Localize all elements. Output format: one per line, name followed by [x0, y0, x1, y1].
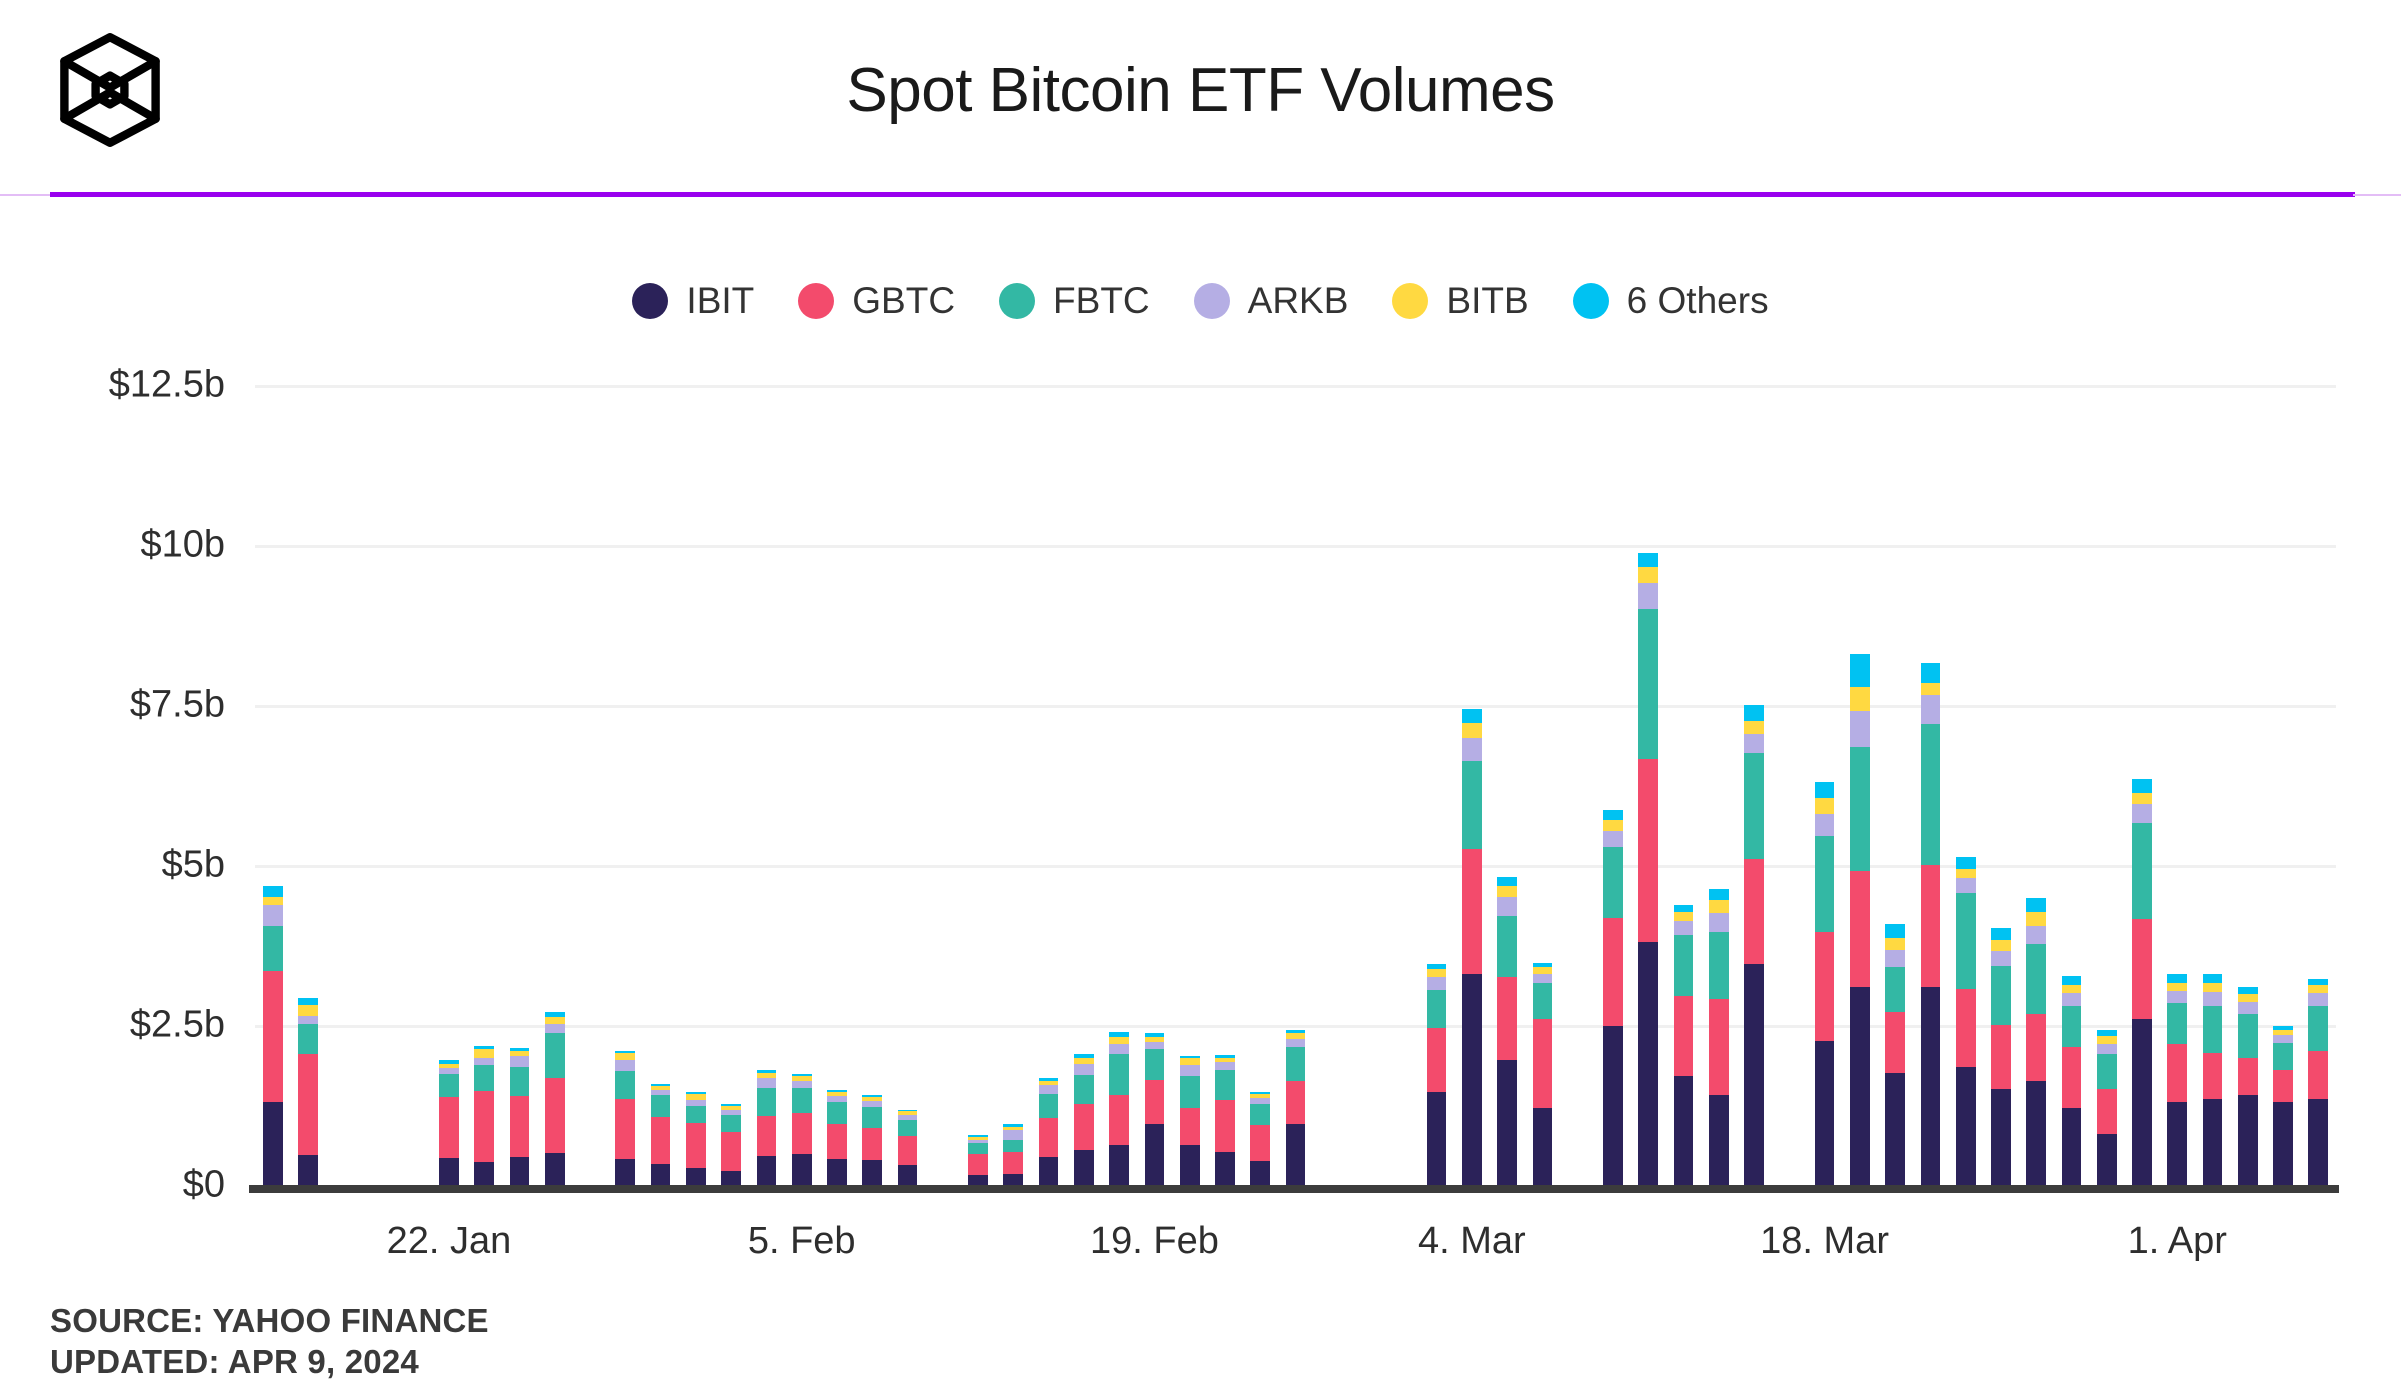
bar-segment-bitb	[545, 1017, 565, 1024]
bar-segment-gbtc	[1991, 1025, 2011, 1089]
bar-segment-fbtc	[1744, 753, 1764, 859]
bar-segment-6-others	[1744, 705, 1764, 721]
bar-segment-fbtc	[1039, 1094, 1059, 1118]
bar-segment-fbtc	[968, 1143, 988, 1154]
bar-segment-ibit	[2167, 1102, 2187, 1185]
bar-segment-gbtc	[2238, 1058, 2258, 1095]
bar-segment-ibit	[1991, 1089, 2011, 1185]
bar-segment-fbtc	[1533, 983, 1553, 1018]
x-axis-tick-label: 4. Mar	[1418, 1220, 1526, 1263]
bar-segment-bitb	[474, 1049, 494, 1057]
bar-segment-arkb	[1885, 950, 1905, 968]
bar-segment-gbtc	[1215, 1100, 1235, 1152]
bar-stack[interactable]	[827, 1090, 847, 1185]
bar-segment-arkb	[2062, 993, 2082, 1006]
bar-segment-ibit	[1145, 1124, 1165, 1185]
bar-segment-bitb	[1497, 886, 1517, 898]
bar-segment-gbtc	[2097, 1089, 2117, 1134]
bar-segment-gbtc	[1145, 1080, 1165, 1124]
bar-segment-ibit	[2132, 1019, 2152, 1185]
bar-segment-6-others	[1956, 857, 1976, 869]
x-axis-tick-label: 5. Feb	[748, 1220, 856, 1263]
bar-segment-ibit	[1497, 1060, 1517, 1185]
bar-segment-arkb	[792, 1081, 812, 1089]
bar-segment-gbtc	[615, 1099, 635, 1160]
bar-segment-bitb	[1709, 900, 1729, 913]
bar-segment-gbtc	[1815, 932, 1835, 1041]
legend-swatch-icon	[632, 283, 668, 319]
bar-segment-ibit	[1674, 1076, 1694, 1185]
accent-rule-right-fade	[2353, 194, 2401, 196]
bar-segment-gbtc	[2132, 919, 2152, 1018]
bar-segment-gbtc	[1427, 1028, 1447, 1092]
bar-segment-6-others	[1638, 553, 1658, 568]
bar-segment-gbtc	[1709, 999, 1729, 1095]
bar-stack[interactable]	[1674, 905, 1694, 1185]
bar-segment-fbtc	[757, 1088, 777, 1116]
bar-segment-fbtc	[1250, 1104, 1270, 1124]
bar-segment-6-others	[1497, 877, 1517, 886]
bar-segment-fbtc	[2308, 1006, 2328, 1051]
bar-segment-6-others	[1815, 782, 1835, 798]
bar-segment-arkb	[1956, 878, 1976, 892]
bar-segment-arkb	[1638, 583, 1658, 609]
bar-segment-fbtc	[545, 1033, 565, 1078]
bar-segment-bitb	[263, 897, 283, 905]
bar-segment-bitb	[2238, 994, 2258, 1002]
bar-stack[interactable]	[2026, 898, 2046, 1185]
bar-segment-ibit	[1709, 1095, 1729, 1185]
bar-stack[interactable]	[1815, 782, 1835, 1185]
bar-segment-arkb	[2167, 991, 2187, 1003]
bar-segment-gbtc	[862, 1128, 882, 1160]
bar-segment-gbtc	[510, 1096, 530, 1157]
bar-segment-arkb	[1074, 1064, 1094, 1075]
bar-segment-fbtc	[827, 1102, 847, 1124]
bar-segment-6-others	[263, 886, 283, 898]
bar-segment-fbtc	[1074, 1075, 1094, 1104]
bar-segment-ibit	[898, 1165, 918, 1185]
bar-segment-ibit	[2273, 1102, 2293, 1185]
bar-segment-gbtc	[263, 971, 283, 1102]
bar-segment-6-others	[2203, 974, 2223, 983]
bar-segment-ibit	[1744, 964, 1764, 1185]
bar-stack[interactable]	[1709, 889, 1729, 1185]
bar-segment-gbtc	[2062, 1047, 2082, 1108]
bar-stack[interactable]	[1180, 1056, 1200, 1185]
bar-segment-arkb	[545, 1024, 565, 1034]
bar-stack[interactable]	[1074, 1054, 1094, 1185]
bar-stack[interactable]	[898, 1109, 918, 1185]
bar-stack[interactable]	[1003, 1124, 1023, 1185]
bar-segment-gbtc	[1603, 918, 1623, 1027]
bar-segment-ibit	[2062, 1108, 2082, 1185]
bar-segment-bitb	[1674, 912, 1694, 921]
bar-stack[interactable]	[2273, 1026, 2293, 1185]
bar-segment-fbtc	[298, 1024, 318, 1053]
bar-segment-arkb	[1003, 1130, 1023, 1140]
bar-segment-fbtc	[1180, 1076, 1200, 1108]
legend-swatch-icon	[1194, 283, 1230, 319]
bar-segment-ibit	[1039, 1157, 1059, 1185]
bar-segment-ibit	[1815, 1041, 1835, 1185]
bar-segment-fbtc	[1427, 990, 1447, 1028]
bar-segment-ibit	[2308, 1099, 2328, 1185]
bar-segment-gbtc	[792, 1113, 812, 1154]
bar-segment-ibit	[862, 1160, 882, 1185]
bar-stack[interactable]	[757, 1070, 777, 1185]
bar-segment-bitb	[1744, 721, 1764, 734]
bar-segment-arkb	[1709, 913, 1729, 932]
bar-segment-arkb	[1921, 695, 1941, 724]
bar-segment-6-others	[1885, 924, 1905, 938]
bar-segment-ibit	[1109, 1145, 1129, 1185]
bar-segment-ibit	[2097, 1134, 2117, 1185]
bar-segment-fbtc	[898, 1120, 918, 1137]
bar-segment-fbtc	[1109, 1054, 1129, 1095]
bar-segment-fbtc	[2062, 1006, 2082, 1048]
bar-segment-arkb	[2273, 1035, 2293, 1043]
bar-segment-arkb	[510, 1056, 530, 1067]
bar-segment-gbtc	[2273, 1070, 2293, 1102]
bar-segment-gbtc	[1921, 865, 1941, 987]
bar-segment-arkb	[1286, 1039, 1306, 1047]
bar-stack[interactable]	[1744, 705, 1764, 1185]
bar-segment-fbtc	[792, 1088, 812, 1113]
bar-segment-fbtc	[510, 1067, 530, 1096]
bar-segment-fbtc	[1815, 836, 1835, 932]
bar-segment-arkb	[615, 1060, 635, 1071]
bar-segment-gbtc	[439, 1097, 459, 1158]
bar-segment-gbtc	[757, 1116, 777, 1156]
bar-segment-ibit	[2238, 1095, 2258, 1185]
bar-segment-bitb	[2097, 1036, 2117, 1044]
bar-segment-fbtc	[2132, 823, 2152, 919]
bar-segment-ibit	[298, 1155, 318, 1185]
bar-segment-arkb	[1991, 951, 2011, 966]
legend-swatch-icon	[999, 283, 1035, 319]
legend-swatch-icon	[1573, 283, 1609, 319]
bar-segment-6-others	[2132, 779, 2152, 793]
bar-segment-arkb	[1497, 897, 1517, 916]
bar-segment-fbtc	[862, 1107, 882, 1128]
bar-segment-ibit	[757, 1156, 777, 1185]
bar-segment-gbtc	[1956, 989, 1976, 1067]
bar-segment-gbtc	[1885, 1012, 1905, 1073]
bar-segment-arkb	[263, 905, 283, 925]
plot-area	[255, 385, 2336, 1185]
legend-item-6-others[interactable]: 6 Others	[1573, 280, 1769, 322]
bar-segment-fbtc	[1638, 609, 1658, 759]
bar-segment-gbtc	[1039, 1118, 1059, 1158]
bar-segment-arkb	[1427, 977, 1447, 990]
bar-stack[interactable]	[686, 1092, 706, 1185]
bar-segment-gbtc	[651, 1117, 671, 1164]
bar-segment-ibit	[1074, 1150, 1094, 1185]
bar-segment-ibit	[545, 1153, 565, 1185]
bar-stack[interactable]	[1956, 857, 1976, 1185]
bar-stack[interactable]	[968, 1135, 988, 1185]
bar-segment-fbtc	[1709, 932, 1729, 999]
accent-rule	[50, 192, 2355, 197]
bar-segment-arkb	[474, 1058, 494, 1065]
bar-segment-ibit	[827, 1159, 847, 1185]
x-axis-tick-label: 1. Apr	[2128, 1220, 2227, 1263]
bar-segment-ibit	[510, 1157, 530, 1185]
bar-segment-bitb	[1603, 820, 1623, 832]
bar-series-container	[255, 385, 2336, 1185]
bar-segment-6-others	[1603, 810, 1623, 820]
bar-stack[interactable]	[1850, 654, 1870, 1185]
legend-item-arkb[interactable]: ARKB	[1194, 280, 1349, 322]
bar-segment-arkb	[1850, 711, 1870, 746]
bar-segment-ibit	[263, 1102, 283, 1185]
bar-segment-bitb	[2308, 985, 2328, 993]
bar-stack[interactable]	[1497, 877, 1517, 1185]
y-axis-tick-label: $5b	[5, 844, 225, 887]
bar-segment-gbtc	[2167, 1044, 2187, 1102]
bar-stack[interactable]	[439, 1060, 459, 1185]
bar-segment-6-others	[2238, 987, 2258, 994]
bar-segment-fbtc	[439, 1074, 459, 1096]
bar-stack[interactable]	[2238, 987, 2258, 1185]
bar-stack[interactable]	[510, 1048, 530, 1185]
bar-segment-fbtc	[1286, 1047, 1306, 1081]
bar-segment-gbtc	[1497, 977, 1517, 1060]
bar-segment-fbtc	[651, 1095, 671, 1116]
x-axis-baseline	[249, 1185, 2339, 1193]
bar-segment-gbtc	[686, 1123, 706, 1168]
bar-stack[interactable]	[1921, 663, 1941, 1185]
bar-segment-ibit	[686, 1168, 706, 1185]
bar-stack[interactable]	[721, 1104, 741, 1185]
bar-segment-gbtc	[721, 1132, 741, 1171]
bar-stack[interactable]	[1462, 709, 1482, 1185]
chart-legend: IBITGBTCFBTCARKBBITB6 Others	[0, 280, 2401, 322]
bar-segment-ibit	[651, 1164, 671, 1185]
bar-segment-ibit	[1533, 1108, 1553, 1185]
bar-stack[interactable]	[1885, 924, 1905, 1185]
bar-segment-bitb	[298, 1005, 318, 1017]
bar-stack[interactable]	[1215, 1054, 1235, 1185]
x-axis-labels: 22. Jan5. Feb19. Feb4. Mar18. Mar1. Apr	[255, 1220, 2336, 1280]
legend-item-ibit[interactable]: IBIT	[632, 280, 754, 322]
accent-rule-left-fade	[0, 194, 52, 196]
bar-segment-bitb	[1850, 687, 1870, 711]
bar-segment-bitb	[1815, 798, 1835, 814]
legend-label: FBTC	[1053, 280, 1150, 322]
bar-segment-ibit	[968, 1175, 988, 1185]
y-axis-tick-label: $0	[5, 1164, 225, 1207]
bar-segment-fbtc	[1991, 966, 2011, 1025]
bar-segment-bitb	[1427, 969, 1447, 977]
bar-stack[interactable]	[298, 998, 318, 1185]
bar-segment-ibit	[1638, 942, 1658, 1185]
y-axis-tick-label: $7.5b	[5, 684, 225, 727]
bar-segment-ibit	[1462, 974, 1482, 1185]
bar-segment-bitb	[1921, 683, 1941, 696]
legend-swatch-icon	[798, 283, 834, 319]
bar-segment-fbtc	[2026, 944, 2046, 1014]
legend-label: ARKB	[1248, 280, 1349, 322]
bar-segment-fbtc	[1215, 1070, 1235, 1100]
bar-segment-bitb	[1991, 940, 2011, 952]
legend-item-bitb[interactable]: BITB	[1392, 280, 1528, 322]
bar-segment-ibit	[1215, 1152, 1235, 1185]
bar-segment-gbtc	[1074, 1104, 1094, 1150]
bar-segment-bitb	[2062, 985, 2082, 993]
source-line: SOURCE: YAHOO FINANCE	[50, 1300, 489, 1341]
bar-stack[interactable]	[651, 1084, 671, 1185]
legend-label: 6 Others	[1627, 280, 1769, 322]
bar-segment-ibit	[1180, 1145, 1200, 1185]
bar-stack[interactable]	[862, 1095, 882, 1185]
bar-segment-fbtc	[1462, 761, 1482, 849]
bar-segment-6-others	[1991, 928, 2011, 940]
bar-segment-gbtc	[474, 1091, 494, 1162]
bar-stack[interactable]	[2203, 974, 2223, 1185]
chart-header: Spot Bitcoin ETF Volumes	[0, 0, 2401, 200]
bar-segment-fbtc	[2273, 1043, 2293, 1070]
bar-segment-bitb	[1462, 723, 1482, 738]
bar-stack[interactable]	[1039, 1078, 1059, 1185]
bar-segment-ibit	[615, 1159, 635, 1185]
bar-segment-fbtc	[2097, 1054, 2117, 1089]
bar-segment-bitb	[615, 1053, 635, 1061]
bar-segment-gbtc	[827, 1124, 847, 1160]
bar-segment-ibit	[1850, 987, 1870, 1185]
legend-swatch-icon	[1392, 283, 1428, 319]
bar-segment-fbtc	[1850, 747, 1870, 872]
legend-label: BITB	[1446, 280, 1528, 322]
x-axis-tick-label: 19. Feb	[1090, 1220, 1219, 1263]
bar-segment-arkb	[298, 1016, 318, 1024]
bar-segment-ibit	[1885, 1073, 1905, 1185]
bar-stack[interactable]	[1638, 553, 1658, 1185]
bar-stack[interactable]	[2132, 779, 2152, 1185]
bar-stack[interactable]	[2308, 979, 2328, 1185]
bar-segment-gbtc	[898, 1136, 918, 1164]
bar-segment-ibit	[1286, 1124, 1306, 1185]
bar-segment-6-others	[2026, 898, 2046, 913]
bar-segment-arkb	[2203, 992, 2223, 1006]
bar-segment-fbtc	[1921, 724, 1941, 865]
bar-stack[interactable]	[2062, 976, 2082, 1185]
bar-segment-ibit	[1250, 1161, 1270, 1185]
bar-segment-fbtc	[721, 1115, 741, 1132]
bar-segment-ibit	[1003, 1174, 1023, 1185]
bar-segment-arkb	[1109, 1044, 1129, 1054]
bar-segment-gbtc	[1850, 871, 1870, 986]
bar-segment-arkb	[1674, 921, 1694, 935]
bar-stack[interactable]	[1603, 810, 1623, 1185]
bar-segment-arkb	[2308, 993, 2328, 1006]
bar-segment-fbtc	[1497, 916, 1517, 977]
bar-stack[interactable]	[2097, 1030, 2117, 1185]
x-axis-tick-label: 18. Mar	[1760, 1220, 1889, 1263]
x-axis-tick-label: 22. Jan	[387, 1220, 512, 1263]
bar-segment-ibit	[1427, 1092, 1447, 1185]
bar-segment-arkb	[1462, 738, 1482, 761]
bar-stack[interactable]	[2167, 974, 2187, 1185]
bar-stack[interactable]	[1286, 1030, 1306, 1185]
bar-segment-arkb	[1145, 1042, 1165, 1050]
bar-segment-bitb	[1885, 938, 1905, 950]
bar-stack[interactable]	[1427, 964, 1447, 1185]
bar-stack[interactable]	[1250, 1092, 1270, 1185]
bar-segment-fbtc	[263, 926, 283, 971]
bar-segment-gbtc	[2026, 1014, 2046, 1081]
y-axis-tick-label: $10b	[5, 524, 225, 567]
bar-segment-arkb	[757, 1078, 777, 1088]
bar-segment-arkb	[1180, 1065, 1200, 1077]
bar-segment-ibit	[792, 1154, 812, 1185]
bar-segment-fbtc	[1956, 893, 1976, 989]
bar-segment-fbtc	[1145, 1049, 1165, 1080]
bar-segment-ibit	[1956, 1067, 1976, 1185]
footer-credits: SOURCE: YAHOO FINANCE UPDATED: APR 9, 20…	[50, 1300, 489, 1383]
bar-segment-arkb	[1039, 1085, 1059, 1094]
bar-segment-bitb	[2203, 983, 2223, 993]
bar-segment-bitb	[2167, 983, 2187, 991]
bar-segment-6-others	[1850, 654, 1870, 687]
bar-stack[interactable]	[263, 885, 283, 1185]
bar-segment-fbtc	[474, 1065, 494, 1091]
bar-stack[interactable]	[1533, 963, 1553, 1185]
bar-segment-ibit	[474, 1162, 494, 1185]
bar-stack[interactable]	[1109, 1032, 1129, 1185]
bar-segment-bitb	[2132, 793, 2152, 805]
bar-stack[interactable]	[615, 1051, 635, 1185]
bar-stack[interactable]	[545, 1012, 565, 1185]
bar-segment-ibit	[2203, 1099, 2223, 1185]
bar-segment-6-others	[2062, 976, 2082, 985]
bar-segment-gbtc	[1533, 1019, 1553, 1109]
bar-segment-gbtc	[2308, 1051, 2328, 1099]
bar-segment-fbtc	[2167, 1003, 2187, 1045]
bar-segment-fbtc	[1003, 1140, 1023, 1152]
bar-segment-6-others	[1709, 889, 1729, 901]
bar-segment-fbtc	[686, 1106, 706, 1123]
bar-segment-gbtc	[1638, 759, 1658, 941]
bar-segment-bitb	[1638, 567, 1658, 583]
bar-segment-arkb	[2132, 804, 2152, 823]
legend-item-gbtc[interactable]: GBTC	[798, 280, 955, 322]
bar-segment-bitb	[2026, 912, 2046, 925]
bar-segment-gbtc	[1250, 1125, 1270, 1161]
bar-segment-gbtc	[1674, 996, 1694, 1076]
bar-segment-gbtc	[968, 1154, 988, 1175]
legend-item-fbtc[interactable]: FBTC	[999, 280, 1150, 322]
bar-segment-gbtc	[2203, 1053, 2223, 1099]
y-axis-labels: $0$2.5b$5b$7.5b$10b$12.5b	[0, 385, 255, 1185]
y-axis-tick-label: $2.5b	[5, 1004, 225, 1047]
bar-stack[interactable]	[792, 1074, 812, 1185]
bar-stack[interactable]	[1145, 1033, 1165, 1185]
bar-stack[interactable]	[474, 1045, 494, 1185]
legend-label: IBIT	[686, 280, 754, 322]
bar-segment-fbtc	[615, 1071, 635, 1099]
bar-segment-ibit	[1603, 1026, 1623, 1185]
page-title: Spot Bitcoin ETF Volumes	[0, 55, 2401, 126]
bar-segment-ibit	[439, 1158, 459, 1185]
bar-stack[interactable]	[1991, 928, 2011, 1185]
bar-segment-gbtc	[1003, 1152, 1023, 1174]
bar-segment-arkb	[2026, 926, 2046, 944]
bar-segment-6-others	[1921, 663, 1941, 682]
bar-segment-ibit	[2026, 1081, 2046, 1185]
bar-segment-arkb	[2238, 1002, 2258, 1014]
